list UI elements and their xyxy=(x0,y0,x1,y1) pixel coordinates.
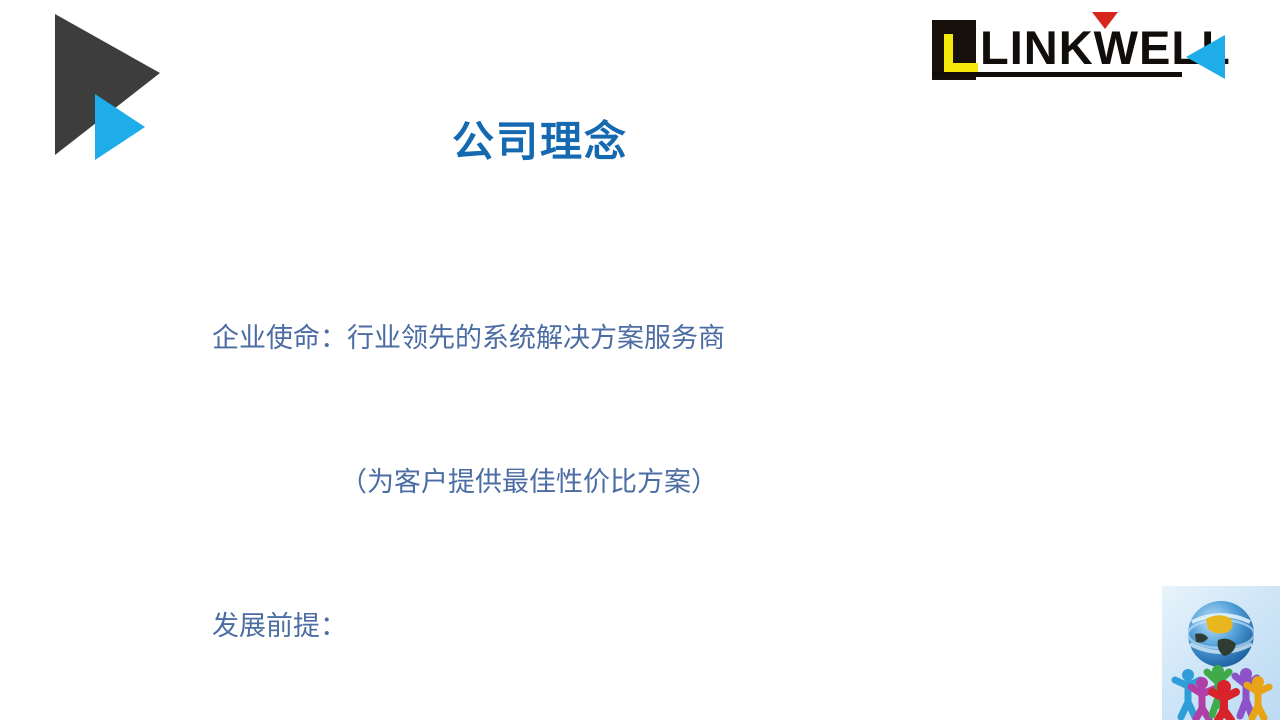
page-title: 公司理念 xyxy=(0,108,1080,169)
logo-red-triangle-icon xyxy=(1092,12,1118,29)
body-line-premise-heading: 发展前提： xyxy=(212,602,1112,650)
logo-underline xyxy=(932,72,1182,77)
presentation-slide: LINKWELL 公司理念 企业使命：行业领先的系统解决方案服务商 （为客户提供… xyxy=(0,0,1280,720)
body-text-block: 企业使命：行业领先的系统解决方案服务商 （为客户提供最佳性价比方案） 发展前提：… xyxy=(212,218,1112,720)
linkwell-logo: LINKWELL xyxy=(930,12,1230,92)
logo-blue-triangle-icon xyxy=(1186,35,1225,79)
logo-badge xyxy=(932,20,976,80)
teamwork-globe-image xyxy=(1162,586,1280,720)
decorative-arrows xyxy=(0,0,220,200)
body-line-mission: 企业使命：行业领先的系统解决方案服务商 xyxy=(212,314,1112,362)
teamwork-globe-icon xyxy=(1162,586,1280,720)
body-line-mission-sub: （为客户提供最佳性价比方案） xyxy=(212,458,1112,506)
logo-badge-letter-l-icon xyxy=(944,34,953,72)
